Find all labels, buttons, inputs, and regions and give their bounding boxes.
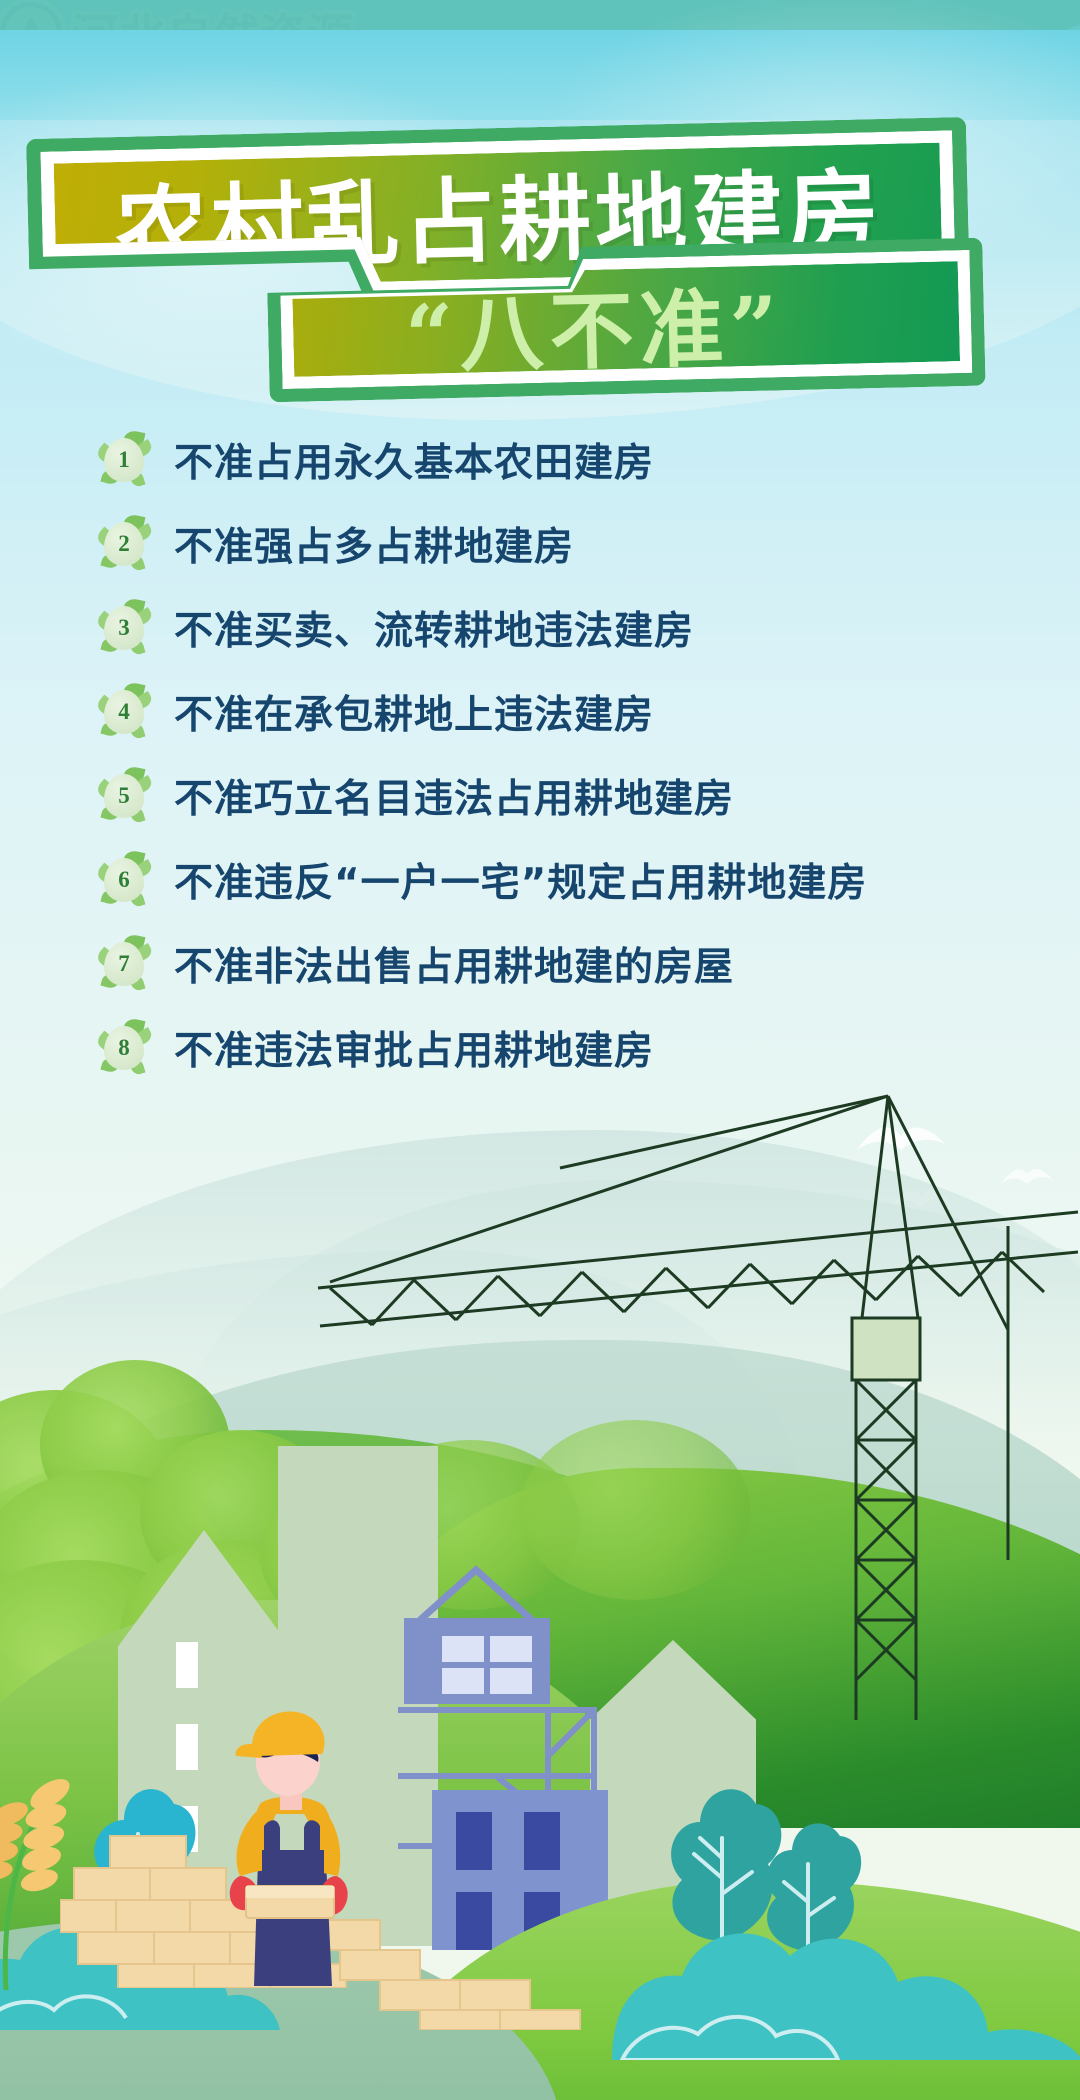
- rule-text: 不准强占多占耕地建房: [174, 516, 574, 572]
- scaffolded-house: [398, 1560, 628, 1950]
- rule-number: 8: [104, 1026, 144, 1070]
- tree-canopy: [360, 1440, 580, 1610]
- tree-canopy: [40, 1360, 230, 1530]
- bird-icon: [890, 1185, 952, 1217]
- rule-item: 5 不准巧立名目违法占用耕地建房: [98, 762, 1018, 830]
- tree-canopy: [520, 1420, 750, 1600]
- leaf-badge-icon: 1: [98, 432, 150, 488]
- bush-cyan-left: [84, 1768, 202, 1928]
- rule-item: 1 不准占用永久基本农田建房: [98, 426, 1018, 494]
- leaf-badge-icon: 4: [98, 684, 150, 740]
- rule-item: 3 不准买卖、流转耕地违法建房: [98, 594, 1018, 662]
- tree-canopy: [0, 1560, 230, 1810]
- bush-teal: [756, 1800, 868, 1950]
- window: [176, 1642, 198, 1688]
- rule-number: 4: [104, 690, 144, 734]
- rule-text: 不准巧立名目违法占用耕地建房: [174, 768, 734, 824]
- rule-number: 5: [104, 774, 144, 818]
- rules-list: 1 不准占用永久基本农田建房 2 不准强占多占耕地建房 3 不准买卖、流转耕地违…: [98, 426, 1018, 1098]
- tower-crane-icon: [0, 1000, 1080, 1720]
- hill-mid-left: [0, 1430, 821, 1750]
- rule-item: 2 不准强占多占耕地建房: [98, 510, 1018, 578]
- title-banner: 农村乱占耕地建房 “八不准”: [0, 118, 1080, 418]
- tree-canopy: [260, 1480, 440, 1630]
- brick-wall: [60, 1818, 460, 1988]
- wheat-stalks-icon: [0, 1690, 166, 1990]
- poster-root: 农村乱占耕地建房 “八不准” 1 不准占用永久基本农田建房: [0, 0, 1080, 2100]
- mist-layer: [0, 1130, 1080, 1440]
- bird-icon: [855, 1120, 947, 1164]
- rule-number: 2: [104, 522, 144, 566]
- leaf-badge-icon: 6: [98, 852, 150, 908]
- leaf-badge-icon: 8: [98, 1020, 150, 1076]
- building-tall-center: [278, 1446, 438, 1946]
- rule-item: 8 不准违法审批占用耕地建房: [98, 1014, 1018, 1082]
- leaf-badge-icon: 7: [98, 936, 150, 992]
- leaf-badge-icon: 2: [98, 516, 150, 572]
- mist-layer: [0, 1250, 799, 1520]
- tree-canopy: [120, 1540, 340, 1730]
- leaf-badge-icon: 3: [98, 600, 150, 656]
- hill-dark: [0, 1510, 497, 1930]
- rule-number: 3: [104, 606, 144, 650]
- building-left: [118, 1530, 290, 1946]
- bush-teal: [660, 1760, 790, 1940]
- bird-icon: [1000, 1165, 1054, 1193]
- building-blue-apartment: [432, 1790, 608, 1950]
- rule-number: 1: [104, 438, 144, 482]
- rule-item: 6 不准违反“一户一宅”规定占用耕地建房: [98, 846, 1018, 914]
- window: [176, 1724, 198, 1770]
- rule-item: 4 不准在承包耕地上违法建房: [98, 678, 1018, 746]
- tree-canopy: [0, 1470, 230, 1690]
- rule-text: 不准违反“一户一宅”规定占用耕地建房: [174, 852, 867, 908]
- hill-foreground-left: [0, 1600, 691, 1940]
- bush-cluster-cyan: [0, 1890, 280, 2030]
- rule-text: 不准在承包耕地上违法建房: [174, 684, 654, 740]
- poster-subtitle: “八不准”: [404, 285, 785, 378]
- hill-foreground-right: [367, 1880, 1080, 2100]
- leaf-badge-icon: 5: [98, 768, 150, 824]
- rule-item: 7 不准非法出售占用耕地建的房屋: [98, 930, 1018, 998]
- hill-far: [0, 1340, 1080, 1670]
- window: [176, 1806, 198, 1852]
- tree-canopy: [0, 1390, 170, 1580]
- hill-foreground-sage: [0, 1918, 562, 2100]
- rule-text: 不准占用永久基本农田建房: [174, 432, 654, 488]
- rule-number: 7: [104, 942, 144, 986]
- rule-number: 6: [104, 858, 144, 902]
- rule-text: 不准非法出售占用耕地建的房屋: [174, 936, 734, 992]
- mist-layer: [173, 1180, 1080, 1480]
- tree-canopy: [140, 1430, 340, 1600]
- rule-text: 不准违法审批占用耕地建房: [174, 1020, 654, 1076]
- bush-cluster-cyan: [612, 1880, 1080, 2060]
- building-right: [590, 1640, 756, 1946]
- brick-steps: [300, 1880, 600, 2030]
- hill-mid-right: [302, 1468, 1080, 1828]
- construction-worker-illustration: [200, 1700, 380, 1990]
- rule-text: 不准买卖、流转耕地违法建房: [174, 600, 694, 656]
